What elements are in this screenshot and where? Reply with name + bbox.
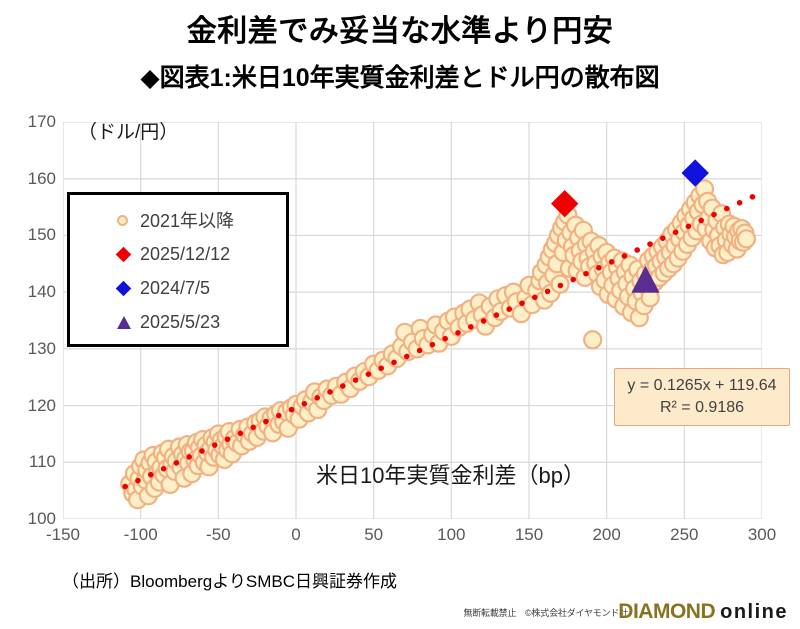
legend-item-label: 2024/7/5 [140, 278, 210, 299]
legend-item[interactable]: 2025/12/12 [70, 237, 286, 271]
diamond-online-logo[interactable]: DIAMOND online [618, 600, 788, 624]
legend-triangle-icon [114, 312, 134, 332]
brand-name-secondary: online [720, 601, 788, 624]
y-axis-title: （ドル/円） [78, 117, 178, 144]
brand-name-primary: DIAMOND [618, 600, 715, 624]
legend-circle-icon [114, 210, 134, 230]
copyright-note: 無断転載禁止 ©株式会社ダイヤモンド社 [463, 606, 628, 619]
y-axis-tick-label: 160 [10, 169, 56, 189]
x-axis-title: 米日10年実質金利差（bp） [316, 458, 585, 490]
y-axis-tick-label: 140 [10, 282, 56, 302]
scatter-chart: 100110120130140150160170 -150-100-500501… [0, 100, 800, 550]
y-axis-tick-label: 130 [10, 339, 56, 359]
x-axis-tick-label: 150 [499, 525, 559, 545]
y-axis-tick-label: 120 [10, 396, 56, 416]
x-axis-tick-label: -100 [111, 525, 171, 545]
x-axis-tick-label: -150 [33, 525, 93, 545]
legend-item-label: 2025/5/23 [140, 312, 220, 333]
chart-legend: 2021年以降2025/12/122024/7/52025/5/23 [67, 192, 289, 347]
legend-item[interactable]: 2021年以降 [70, 203, 286, 237]
source-note: （出所）BloombergよりSMBC日興証券作成 [62, 567, 397, 592]
r-squared-text: R² = 0.9186 [619, 397, 785, 419]
y-axis-tick-label: 110 [10, 452, 56, 472]
x-axis-tick-label: 300 [732, 525, 792, 545]
x-axis-tick-label: 200 [577, 525, 637, 545]
y-axis-tick-label: 170 [10, 112, 56, 132]
page-title: 金利差でみ妥当な水準より円安 [0, 6, 800, 50]
regression-equation-text: y = 0.1265x + 119.64 [619, 375, 785, 397]
chart-subtitle: ◆図表1:米日10年実質金利差とドル円の散布図 [0, 58, 800, 94]
legend-item[interactable]: 2025/5/23 [70, 305, 286, 339]
legend-item[interactable]: 2024/7/5 [70, 271, 286, 305]
x-axis-tick-label: 100 [421, 525, 481, 545]
legend-item-label: 2021年以降 [140, 207, 234, 233]
legend-item-label: 2025/12/12 [140, 244, 230, 265]
regression-equation-box: y = 0.1265x + 119.64 R² = 0.9186 [614, 368, 790, 426]
x-axis-tick-label: 250 [654, 525, 714, 545]
y-axis-tick-label: 150 [10, 225, 56, 245]
x-axis-tick-label: 0 [266, 525, 326, 545]
legend-diamond-icon [114, 278, 134, 298]
legend-diamond-icon [114, 244, 134, 264]
x-axis-tick-label: -50 [188, 525, 248, 545]
x-axis-tick-label: 50 [344, 525, 404, 545]
